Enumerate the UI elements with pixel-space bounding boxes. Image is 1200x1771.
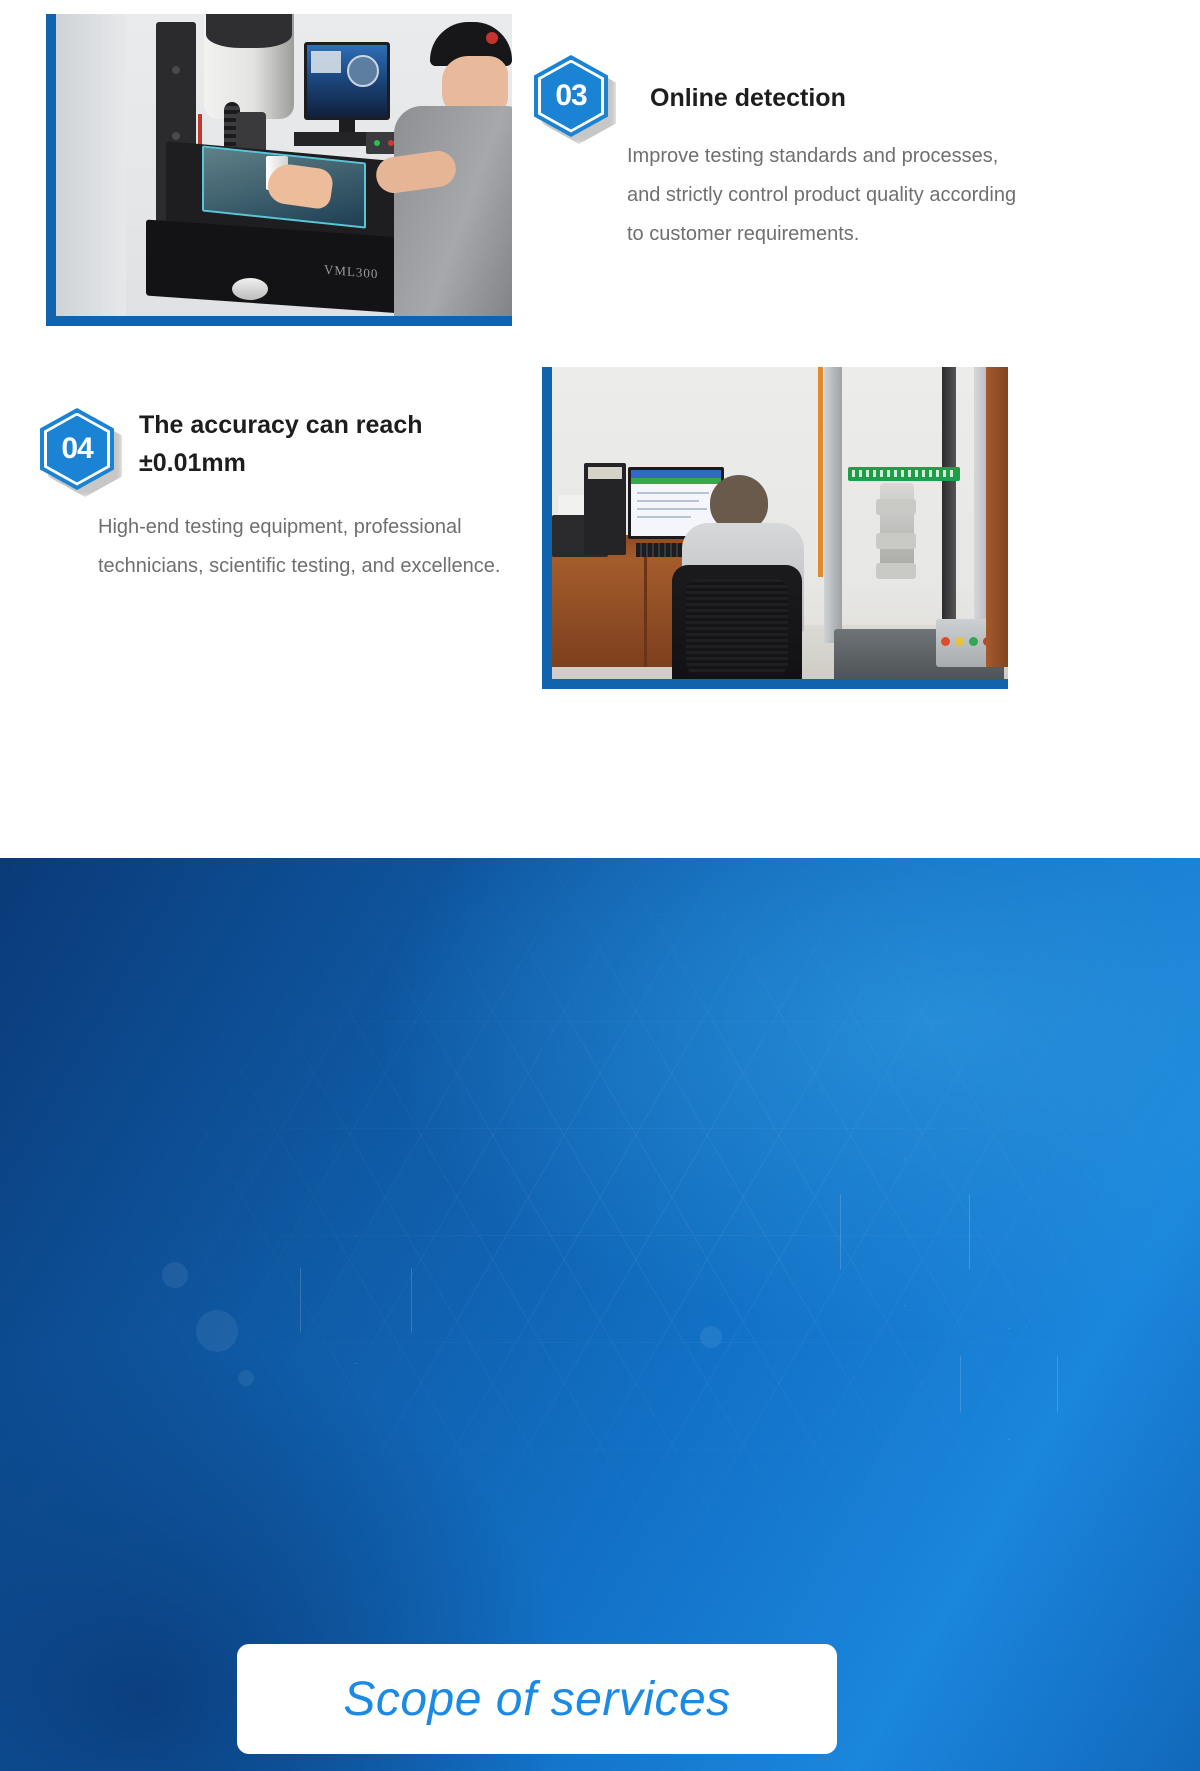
feature-number-03: 03 (534, 55, 608, 137)
decorative-bubble (196, 1310, 238, 1352)
feature-title-04: The accuracy can reach ±0.01mm (139, 407, 519, 482)
feature-number-04: 04 (40, 408, 114, 490)
scope-banner-title: Scope of services (343, 1672, 730, 1727)
accuracy-photo-frame (542, 367, 1008, 689)
feature-badge-04: 04 (40, 408, 114, 490)
decorative-bubble (238, 1370, 254, 1386)
feature-badge-03: 03 (534, 55, 608, 137)
online-detection-photo-frame: VML300 (46, 14, 512, 326)
scope-of-services-section: Scope of services 01 CNC processing of e… (0, 858, 1200, 1771)
photo-frame-left-bar (46, 14, 56, 326)
online-detection-photo: VML300 (56, 14, 512, 316)
photo-frame-bottom-bar (542, 679, 1008, 689)
accuracy-photo (552, 367, 1008, 679)
scope-banner-card: Scope of services (237, 1644, 837, 1754)
feature-title-03: Online detection (650, 80, 1070, 118)
decorative-bubble (700, 1326, 722, 1348)
feature-body-04: High-end testing equipment, professional… (98, 508, 528, 586)
feature-body-03: Improve testing standards and processes,… (627, 137, 1017, 254)
decorative-bubble (162, 1262, 188, 1288)
photo-frame-bottom-bar (46, 316, 512, 326)
features-section: VML300 03 Online detection Improve testi… (0, 0, 1200, 858)
hexagon-background-pattern (0, 858, 1200, 1771)
photo-frame-left-bar (542, 367, 552, 689)
